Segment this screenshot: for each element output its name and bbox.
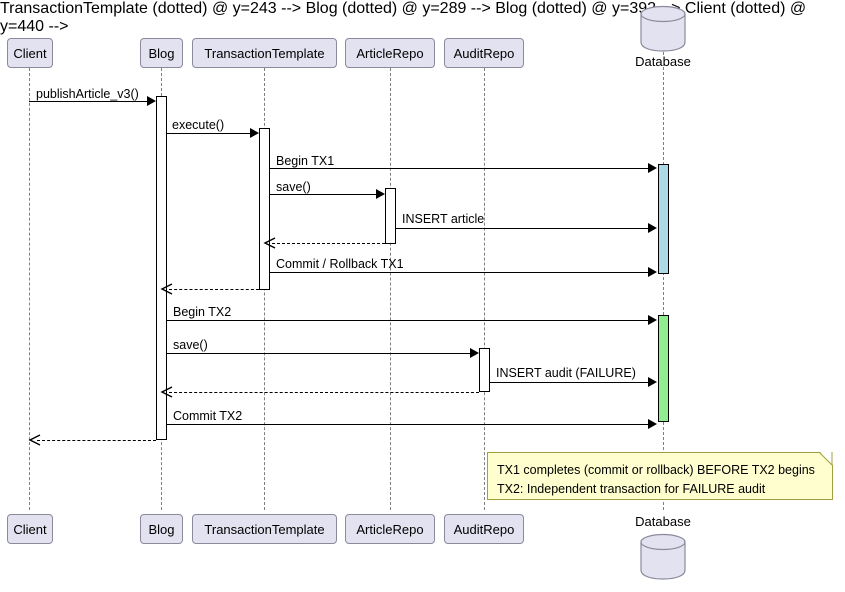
participant-footer-transactiontemplate[interactable]: TransactionTemplate: [192, 514, 337, 544]
participant-label: AuditRepo: [454, 523, 515, 536]
participant-label: Client: [13, 47, 46, 60]
database-icon-bottom[interactable]: [637, 532, 689, 580]
activation-bar-transactiontemplate: [259, 128, 270, 290]
message-label-save-audit: save(): [173, 339, 208, 352]
activation-bar-database-tx1: [658, 164, 669, 274]
message-arrowhead-begin-tx1: [648, 163, 657, 173]
message-arrowhead-save-article: [376, 189, 385, 199]
message-line-begin-tx2: [166, 320, 651, 321]
message-line-publisharticle-v3: [29, 101, 150, 102]
message-line-return-blog: [37, 440, 156, 441]
participant-footer-auditrepo[interactable]: AuditRepo: [444, 514, 524, 544]
message-line-return-auditrepo: [169, 392, 479, 393]
note-line-1: TX1 completes (commit or rollback) BEFOR…: [497, 464, 815, 477]
message-label-publisharticle-v3: publishArticle_v3(): [36, 88, 139, 101]
message-arrowhead-insert-audit-failure: [648, 377, 657, 387]
message-line-return-transactiontemplate: [169, 289, 259, 290]
message-line-begin-tx1: [269, 168, 651, 169]
participant-footer-articlerepo[interactable]: ArticleRepo: [345, 514, 435, 544]
message-label-execute: execute(): [172, 119, 224, 132]
participant-label: Blog: [148, 47, 174, 60]
message-label-commit-tx2: Commit TX2: [173, 410, 242, 423]
participant-header-transactiontemplate[interactable]: TransactionTemplate: [192, 38, 337, 68]
message-arrowhead-execute: [250, 128, 259, 138]
participant-label: TransactionTemplate: [204, 523, 324, 536]
activation-bar-auditrepo: [479, 348, 490, 392]
activation-bar-articlerepo: [385, 188, 396, 244]
message-arrowhead-publisharticle-v3: [147, 96, 156, 106]
database-cylinder-icon: [637, 4, 689, 52]
lifeline-articlerepo: [390, 68, 391, 510]
message-arrowhead-commit-tx2: [648, 419, 657, 429]
message-line-commit-rollback-tx1: [269, 272, 651, 273]
message-label-begin-tx2: Begin TX2: [173, 306, 231, 319]
message-arrowhead-begin-tx2: [648, 315, 657, 325]
participant-label: ArticleRepo: [356, 523, 423, 536]
message-arrowhead-save-audit: [470, 348, 479, 358]
participant-header-articlerepo[interactable]: ArticleRepo: [345, 38, 435, 68]
lifeline-auditrepo: [484, 68, 485, 510]
message-line-save-article: [269, 194, 379, 195]
database-label-bottom: Database: [613, 514, 713, 529]
lifeline-database: [663, 52, 664, 510]
sequence-diagram: Client Blog TransactionTemplate ArticleR…: [0, 0, 845, 592]
participant-label: Client: [13, 523, 46, 536]
message-line-commit-tx2: [166, 424, 651, 425]
note-fold-icon: [819, 452, 833, 466]
message-line-save-audit: [166, 353, 470, 354]
participant-footer-blog[interactable]: Blog: [140, 514, 183, 544]
activation-bar-database-tx2: [658, 315, 669, 422]
database-cylinder-icon: [637, 532, 689, 580]
message-label-commit-rollback-tx1: Commit / Rollback TX1: [276, 258, 404, 271]
message-line-insert-audit-failure: [489, 382, 651, 383]
message-line-execute: [166, 133, 253, 134]
database-icon-top[interactable]: [637, 4, 689, 52]
message-label-insert-audit-failure: INSERT audit (FAILURE): [496, 367, 636, 380]
message-line-return-articlerepo: [272, 243, 385, 244]
participant-label: ArticleRepo: [356, 47, 423, 60]
participant-header-blog[interactable]: Blog: [140, 38, 183, 68]
note-box: TX1 completes (commit or rollback) BEFOR…: [487, 452, 833, 500]
message-arrowhead-insert-article: [648, 223, 657, 233]
message-line-insert-article: [395, 228, 651, 229]
participant-label: Blog: [148, 523, 174, 536]
participant-label: TransactionTemplate: [204, 47, 324, 60]
message-label-begin-tx1: Begin TX1: [276, 155, 334, 168]
participant-header-client[interactable]: Client: [7, 38, 53, 68]
participant-header-auditrepo[interactable]: AuditRepo: [444, 38, 524, 68]
note-line-2: TX2: Independent transaction for FAILURE…: [497, 483, 765, 496]
participant-footer-client[interactable]: Client: [7, 514, 53, 544]
message-label-save-article: save(): [276, 181, 311, 194]
participant-label: AuditRepo: [454, 47, 515, 60]
message-label-insert-article: INSERT article: [402, 213, 484, 226]
message-arrowhead-commit-rollback-tx1: [648, 267, 657, 277]
